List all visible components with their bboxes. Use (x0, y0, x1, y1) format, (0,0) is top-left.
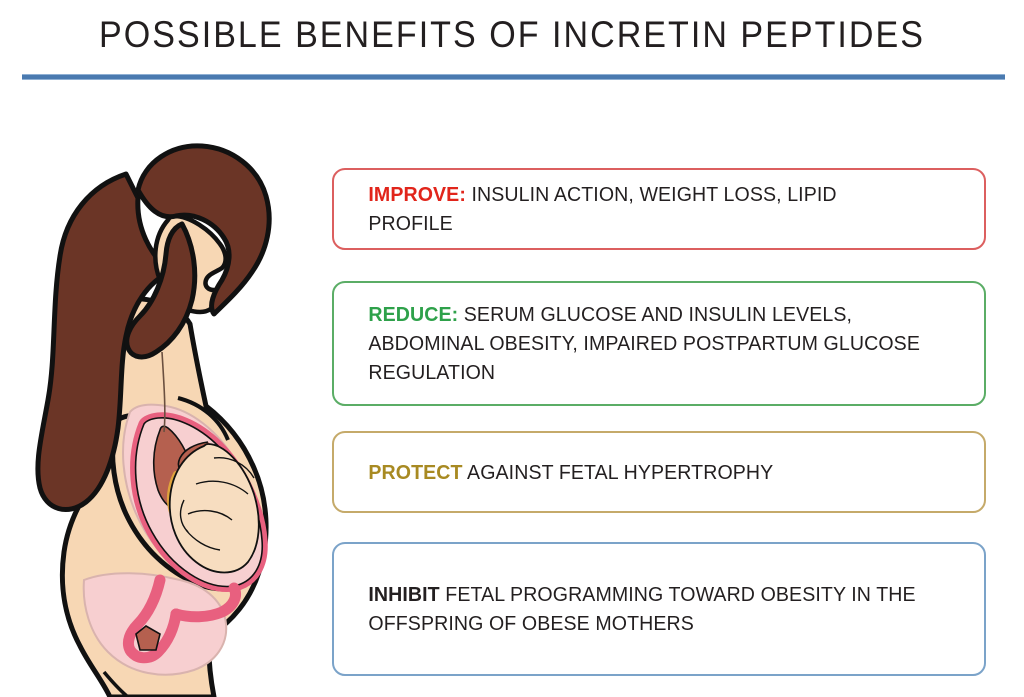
infographic-page: POSSIBLE BENEFITS OF INCRETIN PEPTIDES (0, 0, 1024, 697)
pregnant-woman-svg (18, 128, 318, 697)
callout-protect-text: PROTECT AGAINST FETAL HYPERTROPHY (334, 458, 955, 487)
callout-protect-keyword: PROTECT (368, 461, 462, 484)
callout-inhibit-text: INHIBIT FETAL PROGRAMMING TOWARD OBESITY… (334, 580, 955, 638)
callout-reduce-text: REDUCE: SERUM GLUCOSE AND INSULIN LEVELS… (334, 300, 955, 387)
callout-improve-keyword: IMPROVE: (368, 183, 466, 206)
callout-inhibit[interactable]: INHIBIT FETAL PROGRAMMING TOWARD OBESITY… (332, 542, 986, 676)
callout-reduce[interactable]: REDUCE: SERUM GLUCOSE AND INSULIN LEVELS… (332, 281, 986, 406)
title-divider-rule (22, 74, 1005, 80)
page-title: POSSIBLE BENEFITS OF INCRETIN PEPTIDES (41, 14, 983, 56)
callout-reduce-keyword: REDUCE: (368, 303, 458, 326)
callout-improve[interactable]: IMPROVE: INSULIN ACTION, WEIGHT LOSS, LI… (332, 168, 986, 250)
callout-improve-text: IMPROVE: INSULIN ACTION, WEIGHT LOSS, LI… (334, 180, 955, 238)
callout-protect-body: AGAINST FETAL HYPERTROPHY (463, 461, 774, 484)
callout-inhibit-body: FETAL PROGRAMMING TOWARD OBESITY IN THE … (368, 583, 915, 635)
callout-inhibit-keyword: INHIBIT (368, 583, 439, 606)
pregnant-woman-illustration (18, 128, 318, 697)
callout-protect[interactable]: PROTECT AGAINST FETAL HYPERTROPHY (332, 431, 986, 513)
